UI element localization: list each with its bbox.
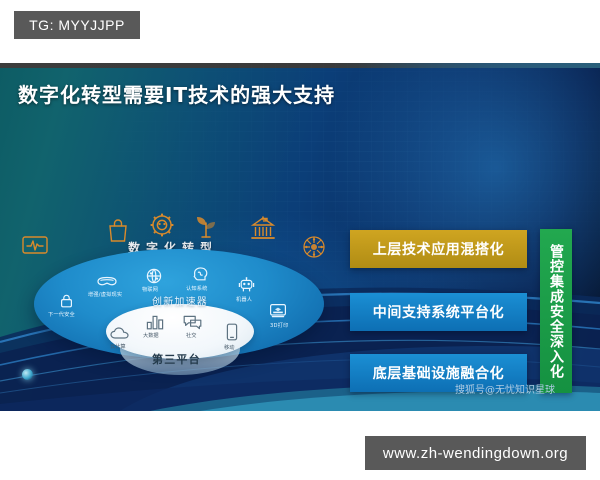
- vertical-box-security-governance[interactable]: 管控集成安全深入化: [540, 229, 572, 393]
- glow-dot-decoration: [22, 369, 33, 380]
- telegram-watermark-badge: TG: MYYJJPP: [14, 11, 140, 39]
- layer-box-upper-application[interactable]: 上层技术应用混搭化: [350, 230, 527, 268]
- presentation-slide: 数字化转型需要IT技术的强大支持: [0, 63, 600, 411]
- node-label-iot: 物联网: [142, 286, 158, 293]
- website-watermark-badge: www.zh-wendingdown.org: [365, 436, 586, 470]
- slide-title: 数字化转型需要IT技术的强大支持: [18, 79, 335, 108]
- node-label-cognitive-systems: 认知系统: [186, 285, 208, 292]
- third-platform-label: 第三平台: [152, 351, 201, 367]
- inner-label-mobile: 移动: [224, 344, 234, 351]
- inner-label-big-data: 大数据: [143, 332, 159, 339]
- bank-building-icon: [250, 216, 276, 242]
- mobile-phone-icon: [226, 323, 238, 346]
- vertical-box-label: 管控集成安全深入化: [546, 244, 566, 379]
- 3d-printer-icon: [269, 303, 287, 324]
- sohu-watermark: 搜狐号@无忧知识星球: [455, 381, 555, 396]
- inner-label-social: 社交: [186, 332, 196, 339]
- manufacturing-gear-icon: [148, 211, 176, 239]
- node-label-next-gen-security: 下一代安全: [48, 311, 75, 318]
- innovation-accelerator-label: 创新加速器: [152, 293, 208, 308]
- agriculture-plant-icon: [193, 213, 219, 239]
- node-label-3d-printing: 3D打印: [270, 322, 288, 329]
- node-label-ar-vr: 增强/虚拟现实: [88, 291, 122, 298]
- inner-label-cloud: 云计算: [110, 343, 126, 350]
- layer-box-middle-platform[interactable]: 中间支持系统平台化: [350, 293, 527, 331]
- cognitive-brain-icon: [192, 266, 209, 287]
- node-label-robotics: 机器人: [236, 296, 252, 303]
- shopping-bag-icon: [107, 218, 129, 243]
